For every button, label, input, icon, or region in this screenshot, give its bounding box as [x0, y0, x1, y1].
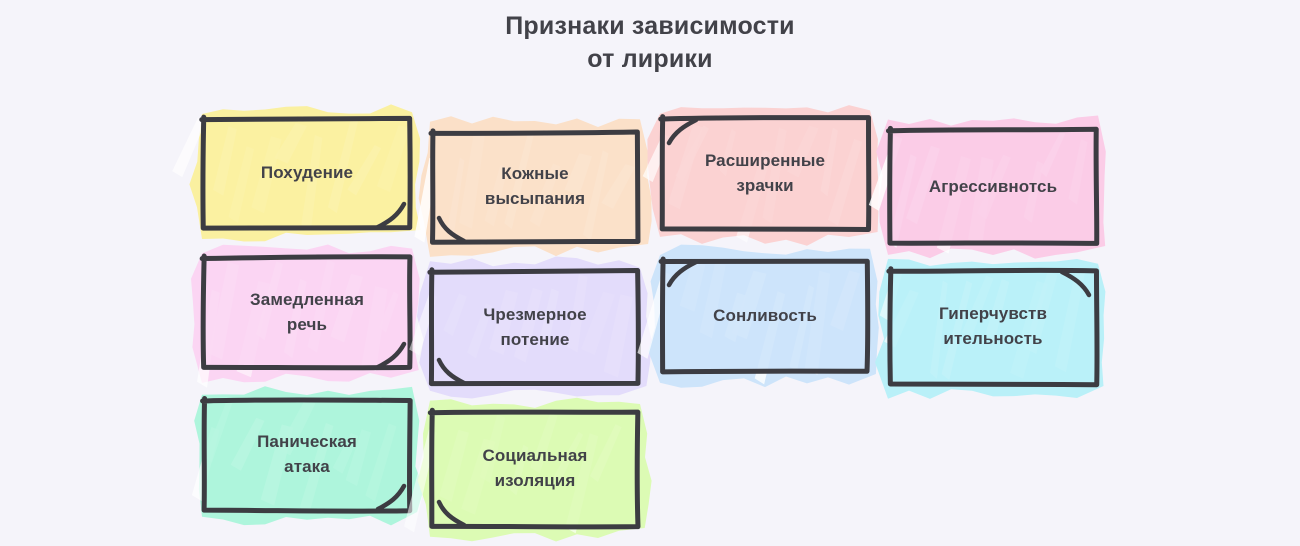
page-title: Признаки зависимости от лирики — [0, 10, 1300, 76]
card-giperchuvstvitelnost[interactable]: Гиперчувств ительность — [874, 254, 1112, 400]
card-chrezmernoe-potenie[interactable]: Чрезмерное потение — [416, 256, 654, 400]
card-poxudenie-sketch — [188, 102, 426, 244]
card-fill — [637, 245, 878, 388]
card-fill — [414, 116, 651, 257]
card-sonlivost[interactable]: Сонливость — [646, 244, 884, 388]
card-agressivnost-sketch — [874, 114, 1112, 260]
card-panicheskaya-ataka[interactable]: Паническая атака — [188, 384, 426, 526]
card-socialnaya-izolyaciya[interactable]: Социальная изоляция — [416, 396, 654, 542]
card-rasshirennye-zrachki[interactable]: Расширенные зрачки — [646, 102, 884, 246]
card-sonlivost-sketch — [646, 244, 884, 388]
card-agressivnost[interactable]: Агрессивнотсь — [874, 114, 1112, 260]
card-panicheskaya-ataka-sketch — [188, 384, 426, 526]
card-fill — [643, 105, 879, 246]
card-poxudenie[interactable]: Похудение — [188, 102, 426, 244]
sketch-board: Признаки зависимости от лирики Похудение… — [0, 0, 1300, 546]
card-fill — [869, 116, 1106, 259]
card-kozhnye-vysypaniya[interactable]: Кожные высыпания — [416, 116, 654, 258]
card-fill — [409, 257, 651, 399]
card-zamedlennaya-rech-sketch — [188, 242, 426, 384]
card-socialnaya-izolyaciya-sketch — [416, 396, 654, 542]
card-fill — [875, 259, 1105, 399]
card-kozhnye-vysypaniya-sketch — [416, 116, 654, 258]
card-zamedlennaya-rech[interactable]: Замедленная речь — [188, 242, 426, 384]
card-chrezmernoe-potenie-sketch — [416, 256, 654, 400]
card-fill — [404, 398, 652, 542]
card-rasshirennye-zrachki-sketch — [646, 102, 884, 246]
card-giperchuvstvitelnost-sketch — [874, 254, 1112, 400]
card-fill — [172, 104, 420, 241]
